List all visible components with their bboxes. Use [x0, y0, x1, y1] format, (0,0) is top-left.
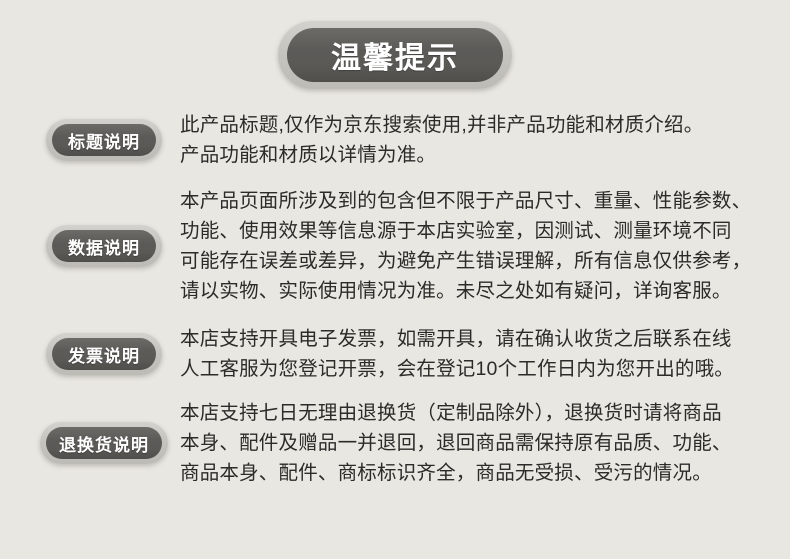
- badge-return-explanation: 退换货说明: [40, 422, 168, 464]
- body-line: 本身、配件及赠品一并退回，退回商品需保持原有品质、功能、: [180, 428, 776, 458]
- badge-cell: 退换货说明: [28, 422, 180, 464]
- body-line: 本产品页面所涉及到的包含但不限于产品尺寸、重量、性能参数、: [180, 186, 776, 216]
- body-line: 本店支持七日无理由退换货（定制品除外），退换货时请将商品: [180, 398, 776, 428]
- header-pill: 温馨提示: [278, 21, 512, 89]
- badge-cell: 数据说明: [28, 225, 180, 267]
- badge-data-explanation: 数据说明: [46, 225, 162, 267]
- badge-label: 标题说明: [52, 124, 156, 156]
- section-body: 本产品页面所涉及到的包含但不限于产品尺寸、重量、性能参数、 功能、使用效果等信息…: [180, 186, 776, 306]
- body-line: 此产品标题,仅作为京东搜索使用,并非产品功能和材质介绍。: [180, 110, 776, 140]
- page-title: 温馨提示: [287, 28, 503, 82]
- body-line: 本店支持开具电子发票，如需开具，请在确认收货之后联系在线: [180, 324, 776, 354]
- body-line: 可能存在误差或差异，为避免产生错误理解，所有信息仅供参考，: [180, 246, 776, 276]
- body-line: 人工客服为您登记开票，会在登记10个工作日内为您开出的哦。: [180, 354, 776, 384]
- badge-label: 退换货说明: [46, 427, 162, 459]
- badge-label: 数据说明: [52, 230, 156, 262]
- section-return-explanation: 退换货说明 本店支持七日无理由退换货（定制品除外），退换货时请将商品 本身、配件…: [28, 398, 776, 488]
- section-invoice-explanation: 发票说明 本店支持开具电子发票，如需开具，请在确认收货之后联系在线 人工客服为您…: [28, 324, 776, 384]
- badge-title-explanation: 标题说明: [46, 119, 162, 161]
- body-line: 商品本身、配件、商标标识齐全，商品无受损、受污的情况。: [180, 458, 776, 488]
- section-body: 本店支持开具电子发票，如需开具，请在确认收货之后联系在线 人工客服为您登记开票，…: [180, 324, 776, 384]
- header-banner: 温馨提示: [0, 0, 790, 89]
- badge-cell: 发票说明: [28, 333, 180, 375]
- badge-label: 发票说明: [52, 338, 156, 370]
- body-line: 请以实物、实际使用情况为准。未尽之处如有疑问，详询客服。: [180, 276, 776, 306]
- badge-invoice-explanation: 发票说明: [46, 333, 162, 375]
- section-body: 此产品标题,仅作为京东搜索使用,并非产品功能和材质介绍。 产品功能和材质以详情为…: [180, 110, 776, 170]
- body-line: 功能、使用效果等信息源于本店实验室，因测试、测量环境不同: [180, 216, 776, 246]
- notice-sections: 标题说明 此产品标题,仅作为京东搜索使用,并非产品功能和材质介绍。 产品功能和材…: [0, 110, 790, 488]
- section-data-explanation: 数据说明 本产品页面所涉及到的包含但不限于产品尺寸、重量、性能参数、 功能、使用…: [28, 186, 776, 306]
- body-line: 产品功能和材质以详情为准。: [180, 140, 776, 170]
- badge-cell: 标题说明: [28, 119, 180, 161]
- section-title-explanation: 标题说明 此产品标题,仅作为京东搜索使用,并非产品功能和材质介绍。 产品功能和材…: [28, 110, 776, 170]
- section-body: 本店支持七日无理由退换货（定制品除外），退换货时请将商品 本身、配件及赠品一并退…: [180, 398, 776, 488]
